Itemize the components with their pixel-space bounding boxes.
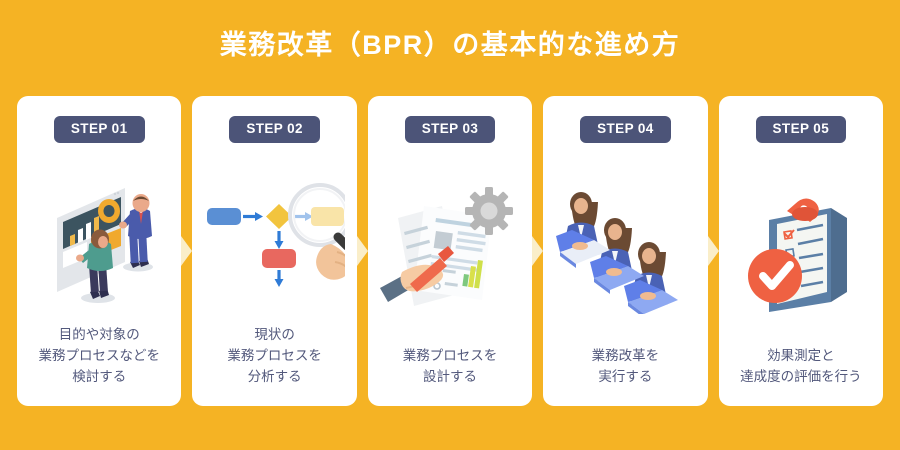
step-caption-1: 目的や対象の 業務プロセスなどを 検討する bbox=[32, 325, 166, 406]
flowchart-magnifier-icon bbox=[192, 143, 356, 326]
steps-container: STEP 01 bbox=[17, 96, 883, 406]
dashboard-analysis-icon bbox=[17, 143, 181, 326]
step-badge-4: STEP 04 bbox=[580, 116, 671, 143]
step-badge-5: STEP 05 bbox=[756, 116, 847, 143]
step-card-4[interactable]: STEP 04 bbox=[543, 96, 707, 406]
step-caption-5: 効果測定と 達成度の評価を行う bbox=[734, 346, 868, 406]
page-title: 業務改革（BPR）の基本的な進め方 bbox=[0, 0, 900, 59]
team-laptops-icon bbox=[543, 143, 707, 347]
step-caption-2: 現状の 業務プロセスを 分析する bbox=[221, 325, 328, 406]
step-arrow-2 bbox=[357, 236, 368, 266]
step-arrow-4 bbox=[708, 236, 719, 266]
step-caption-4: 業務改革を 実行する bbox=[586, 346, 666, 406]
step-card-5[interactable]: STEP 05 bbox=[719, 96, 883, 406]
step-caption-3: 業務プロセスを 設計する bbox=[397, 346, 504, 406]
step-arrow-1 bbox=[181, 236, 192, 266]
step-card-1[interactable]: STEP 01 bbox=[17, 96, 181, 406]
step-card-3[interactable]: STEP 03 bbox=[368, 96, 532, 406]
step-badge-2: STEP 02 bbox=[229, 116, 320, 143]
documents-gear-pen-icon bbox=[368, 143, 532, 347]
clipboard-checkmark-icon bbox=[719, 143, 883, 347]
step-card-2[interactable]: STEP 02 bbox=[192, 96, 356, 406]
step-badge-3: STEP 03 bbox=[405, 116, 496, 143]
step-arrow-3 bbox=[532, 236, 543, 266]
step-badge-1: STEP 01 bbox=[54, 116, 145, 143]
